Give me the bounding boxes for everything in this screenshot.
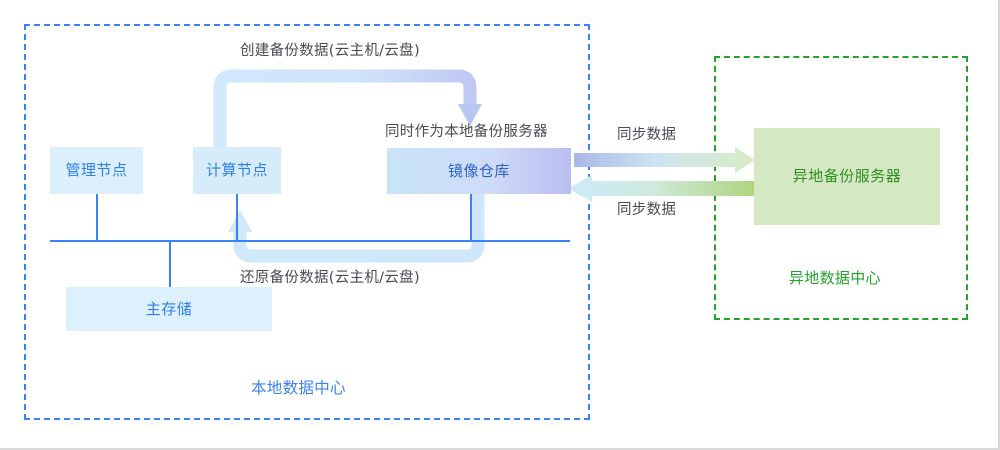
node-remote-backup-server[interactable]: 异地备份服务器 [754, 128, 940, 225]
node-management-label: 管理节点 [65, 163, 127, 178]
create-backup-flow-label: 创建备份数据(云主机/云盘) [240, 44, 420, 59]
node-image-repository-label: 镜像仓库 [448, 164, 510, 179]
node-image-repository[interactable]: 镜像仓库 [387, 148, 571, 194]
local-datacenter-label: 本地数据中心 [251, 381, 346, 397]
diagram-canvas: 管理节点 计算节点 镜像仓库 主存储 异地备份服务器 创建备份数据(云主机/云盘… [0, 0, 1000, 450]
backplane-bus-line [50, 240, 570, 242]
bus-drop-image-repo [470, 194, 472, 241]
sync-inbound-label: 同步数据 [617, 203, 676, 218]
bus-drop-main-storage [169, 240, 171, 288]
repo-role-note-label: 同时作为本地备份服务器 [385, 125, 548, 140]
remote-datacenter-label: 异地数据中心 [789, 271, 881, 286]
node-compute-label: 计算节点 [206, 163, 268, 178]
node-management[interactable]: 管理节点 [50, 147, 143, 194]
sync-outbound-label: 同步数据 [617, 128, 676, 143]
bus-drop-management-node [96, 194, 98, 241]
bus-drop-compute-node [236, 194, 238, 241]
restore-backup-flow-label: 还原备份数据(云主机/云盘) [240, 271, 420, 286]
node-compute[interactable]: 计算节点 [193, 147, 281, 194]
node-main-storage-label: 主存储 [146, 302, 193, 317]
local-datacenter-container [24, 24, 590, 420]
node-main-storage[interactable]: 主存储 [66, 287, 272, 331]
node-remote-backup-server-label: 异地备份服务器 [793, 169, 902, 184]
